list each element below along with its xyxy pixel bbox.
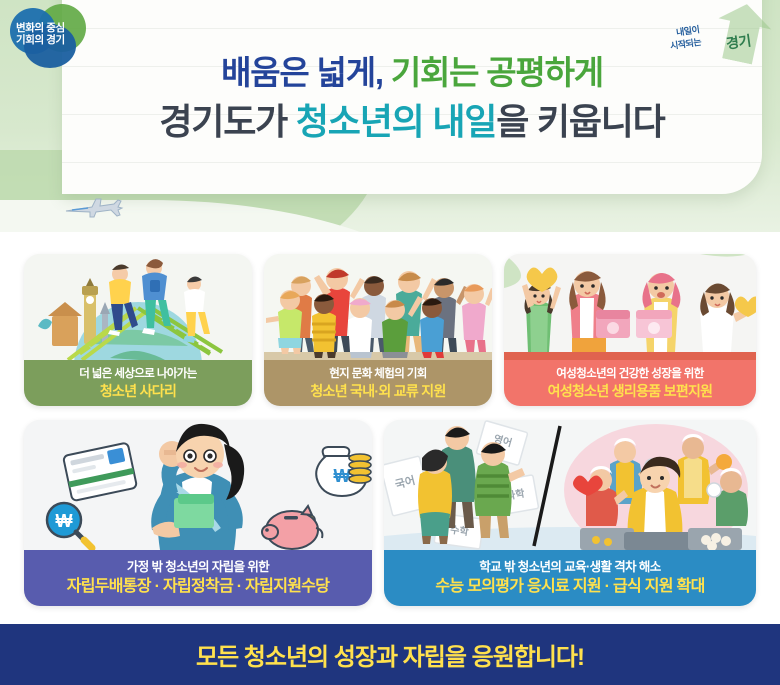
card5-subtitle: 학교 밖 청소년의 교육·생활 격차 해소 (479, 560, 660, 575)
card4-caption: 가정 밖 청소년의 자립을 위한 자립두배통장 · 자립정착금 · 자립지원수당 (24, 550, 372, 606)
card2-title: 청소년 국내·외 교류 지원 (310, 383, 445, 400)
airplane-icon (62, 196, 126, 218)
card-youth-exchange[interactable]: 현지 문화 체험의 기회 청소년 국내·외 교류 지원 (264, 254, 492, 406)
card3-title: 여성청소년 생리용품 보편지원 (548, 383, 713, 400)
header-section: 변화의 중심 기회의 경기 내일이 시작되는 경기 배움은 넓게, 기회는 공평… (0, 0, 780, 232)
title-line2-part2: 청소년의 내일 (296, 101, 496, 142)
card2-subtitle: 현지 문화 체험의 기회 (329, 367, 427, 381)
card3-caption: 여성청소년의 건강한 성장을 위한 여성청소년 생리용품 보편지원 (504, 360, 756, 406)
card5-illustration: 국어 영어 과학 수학 (384, 420, 756, 550)
footer-message: 모든 청소년의 성장과 자립을 응원합니다! (196, 637, 584, 672)
card5-caption: 학교 밖 청소년의 교육·생활 격차 해소 수능 모의평가 응시료 지원 · 급… (384, 550, 756, 606)
infographic-poster: 변화의 중심 기회의 경기 내일이 시작되는 경기 배움은 넓게, 기회는 공평… (0, 0, 780, 685)
card3-subtitle: 여성청소년의 건강한 성장을 위한 (556, 367, 704, 381)
footer-banner: 모든 청소년의 성장과 자립을 응원합니다! (0, 624, 780, 685)
girl-savings-piggybank-art: ₩ ₩ (24, 420, 372, 550)
title-line2-part1: 경기도가 (159, 101, 287, 142)
title-line1-part2: 기회는 공평하게 (391, 54, 603, 91)
card4-title: 자립두배통장 · 자립정착금 · 자립지원수당 (67, 577, 330, 596)
card-youth-ladder[interactable]: 더 넓은 세상으로 나아가는 청소년 사다리 (24, 254, 252, 406)
program-cards: 더 넓은 세상으로 나아가는 청소년 사다리 (0, 232, 780, 624)
students-exams-and-meal-service-art: 국어 영어 과학 수학 (384, 420, 756, 550)
slogan-line-3: 시작되는 (669, 35, 702, 52)
girls-with-hearts-boxes-art (504, 254, 756, 360)
card1-illustration (24, 254, 252, 360)
card-independence-support[interactable]: ₩ ₩ (24, 420, 372, 606)
card1-title: 청소년 사다리 (100, 383, 176, 400)
card1-caption: 더 넓은 세상으로 나아가는 청소년 사다리 (24, 360, 252, 406)
title-line2-part3: 을 키웁니다 (496, 101, 664, 142)
tomorrow-slogan: 내일이 시작되는 경기 (668, 4, 772, 66)
card3-illustration (504, 254, 756, 360)
slogan-line-4: 경기 (725, 30, 752, 53)
title-line1-part1: 배움은 넓게, (221, 54, 383, 91)
card5-title: 수능 모의평가 응시료 지원 · 급식 지원 확대 (435, 577, 704, 596)
svg-text:₩: ₩ (334, 466, 351, 486)
card1-subtitle: 더 넓은 세상으로 나아가는 (79, 367, 197, 381)
logo-text: 변화의 중심 기회의 경기 (16, 22, 102, 46)
gyeonggi-logo: 변화의 중심 기회의 경기 (8, 4, 108, 70)
diverse-children-group-art (264, 254, 492, 360)
card2-illustration (264, 254, 492, 360)
card-out-of-school-support[interactable]: 국어 영어 과학 수학 (384, 420, 756, 606)
card-sanitary-products[interactable]: 여성청소년의 건강한 성장을 위한 여성청소년 생리용품 보편지원 (504, 254, 756, 406)
card4-subtitle: 가정 밖 청소년의 자립을 위한 (127, 560, 269, 575)
card2-caption: 현지 문화 체험의 기회 청소년 국내·외 교류 지원 (264, 360, 492, 406)
card4-illustration: ₩ ₩ (24, 420, 372, 550)
svg-text:₩: ₩ (56, 511, 73, 531)
page-title: 배움은 넓게, 기회는 공평하게 경기도가 청소년의 내일을 키웁니다 (62, 56, 762, 141)
youth-ladder-globe-art (24, 254, 252, 360)
